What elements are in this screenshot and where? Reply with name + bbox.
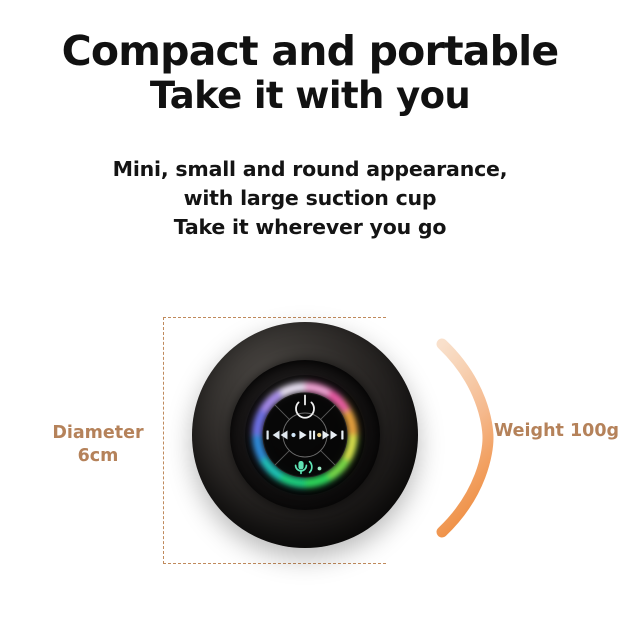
diameter-title: Diameter xyxy=(38,422,158,445)
subheadline: Mini, small and round appearance, with l… xyxy=(0,155,620,242)
led-indicator-left xyxy=(291,433,295,437)
led-indicator-bottom xyxy=(318,467,322,471)
headline: Compact and portable Take it with you xyxy=(0,28,620,118)
diameter-value: 6cm xyxy=(38,445,158,468)
power-icon[interactable] xyxy=(296,396,314,418)
control-glyphs xyxy=(243,373,367,497)
headline-line-1: Compact and portable xyxy=(0,28,620,74)
subheadline-line-2: with large suction cup xyxy=(0,184,620,213)
weight-annotation: Weight 100g xyxy=(494,421,620,441)
weight-arc xyxy=(428,338,500,538)
microphone-call-icon[interactable] xyxy=(296,461,312,473)
headline-line-2: Take it with you xyxy=(0,74,620,118)
diameter-annotation: Diameter 6cm xyxy=(38,422,158,468)
play-pause-icon[interactable] xyxy=(299,431,315,440)
led-indicator-right xyxy=(317,433,321,437)
control-panel[interactable] xyxy=(243,373,367,497)
subheadline-line-3: Take it wherever you go xyxy=(0,213,620,242)
previous-track-icon[interactable] xyxy=(267,431,288,440)
speaker-body xyxy=(192,322,418,548)
subheadline-line-1: Mini, small and round appearance, xyxy=(0,155,620,184)
next-track-icon[interactable] xyxy=(323,431,344,440)
product-feature-card: Compact and portable Take it with you Mi… xyxy=(0,0,620,620)
